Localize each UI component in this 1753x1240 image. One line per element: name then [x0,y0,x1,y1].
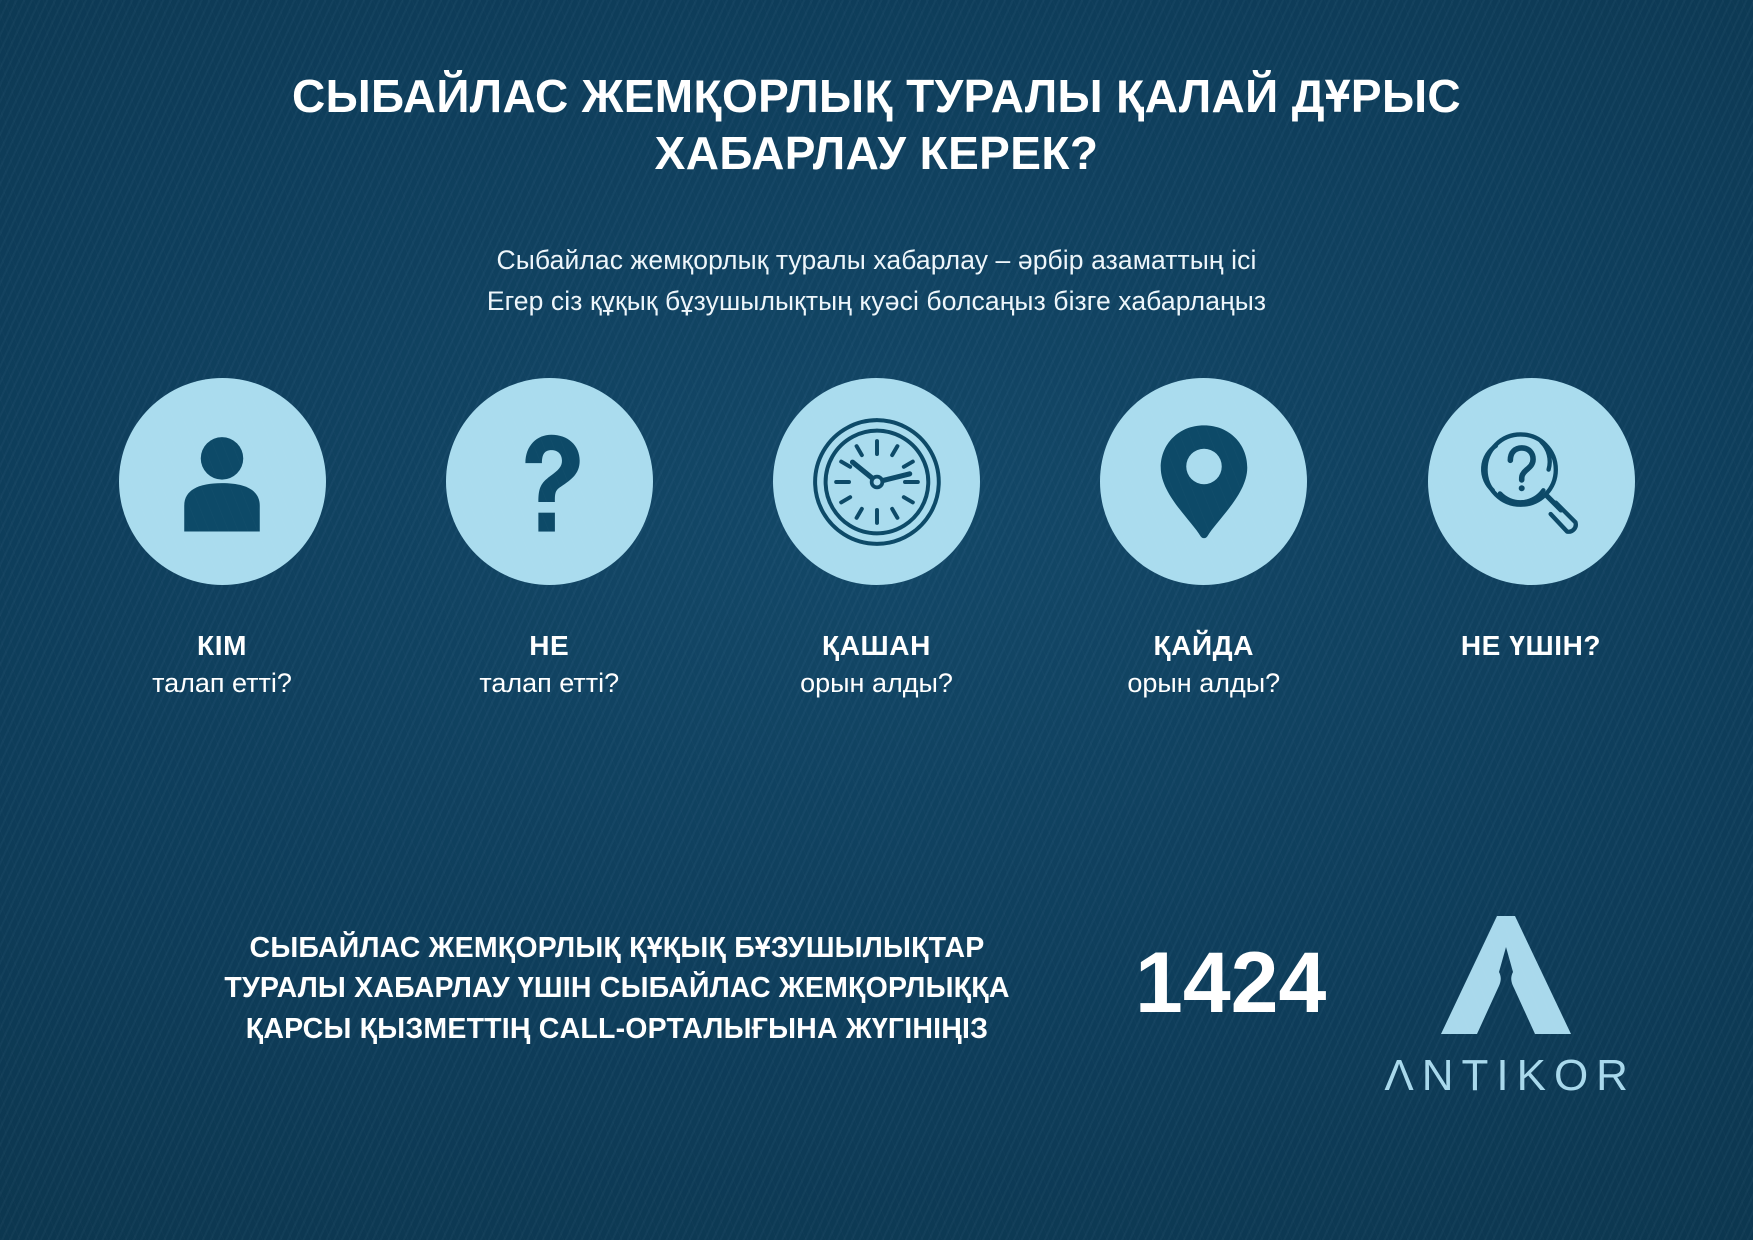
question-main-qashan: ҚАШАН [800,629,953,662]
icon-circle-magnifier [1428,378,1635,585]
question-mark-icon [490,423,608,541]
question-item-qashan: ҚАШАН орын алды? [727,378,1027,701]
footer: СЫБАЙЛАС ЖЕМҚОРЛЫҚ ҚҰҚЫҚ БҰЗУШЫЛЫҚТАР ТУ… [0,910,1753,1140]
map-pin-icon [1143,421,1265,543]
subtitle-line-2: Егер сіз құқық бұзушылықтың куәсі болсаң… [0,281,1753,322]
cta-line-1: СЫБАЙЛАС ЖЕМҚОРЛЫҚ ҚҰҚЫҚ БҰЗУШЫЛЫҚТАР [117,928,1117,968]
person-icon [163,423,281,541]
question-caption-qashan: ҚАШАН орын алды? [800,629,953,701]
call-to-action-text: СЫБАЙЛАС ЖЕМҚОРЛЫҚ ҚҰҚЫҚ БҰЗУШЫЛЫҚТАР ТУ… [117,910,1117,1049]
question-caption-ne-ushin: НЕ ҮШІН? [1461,629,1601,662]
antikor-logo-icon [1440,914,1572,1038]
question-main-ne-ushin: НЕ ҮШІН? [1461,629,1601,662]
question-sub-qaida: орын алды? [1127,666,1280,701]
infographic-poster: СЫБАЙЛАС ЖЕМҚОРЛЫҚ ТУРАЛЫ ҚАЛАЙ ДҰРЫС ХА… [0,0,1753,1240]
question-item-ne: НЕ талап етті? [399,378,699,701]
page-title: СЫБАЙЛАС ЖЕМҚОРЛЫҚ ТУРАЛЫ ҚАЛАЙ ДҰРЫС ХА… [0,68,1753,182]
question-caption-qaida: ҚАЙДА орын алды? [1127,629,1280,701]
question-sub-qashan: орын алды? [800,666,953,701]
cta-line-2: ТУРАЛЫ ХАБАРЛАУ ҮШІН СЫБАЙЛАС ЖЕМҚОРЛЫҚҚ… [117,968,1117,1008]
magnifier-question-icon [1469,420,1593,544]
question-sub-kim: талап етті? [152,666,292,701]
question-sub-ne: талап етті? [479,666,619,701]
icon-circle-question-mark [446,378,653,585]
hotline-number: 1424 [1135,910,1326,1026]
question-item-qaida: ҚАЙДА орын алды? [1054,378,1354,701]
question-caption-ne: НЕ талап етті? [479,629,619,701]
subtitle-block: Сыбайлас жемқорлық туралы хабарлау – әрб… [0,240,1753,322]
icon-circle-person [119,378,326,585]
icon-circle-clock [773,378,980,585]
subtitle-line-1: Сыбайлас жемқорлық туралы хабарлау – әрб… [0,240,1753,281]
question-caption-kim: КІМ талап етті? [152,629,292,701]
question-item-ne-ushin: НЕ ҮШІН? [1381,378,1681,662]
cta-line-3: ҚАРСЫ ҚЫЗМЕТТІҢ CALL-ОРТАЛЫҒЫНА ЖҮГІНІҢІ… [117,1009,1117,1049]
clock-icon [807,412,947,552]
question-item-kim: КІМ талап етті? [72,378,372,701]
question-main-kim: КІМ [152,629,292,662]
icon-circle-map-pin [1100,378,1307,585]
antikor-wordmark: ΛNTIKOR [1376,1054,1636,1098]
question-main-ne: НЕ [479,629,619,662]
question-icon-row: КІМ талап етті? НЕ талап етті? [72,378,1681,701]
antikor-logo: ΛNTIKOR [1376,910,1636,1098]
question-main-qaida: ҚАЙДА [1127,629,1280,662]
